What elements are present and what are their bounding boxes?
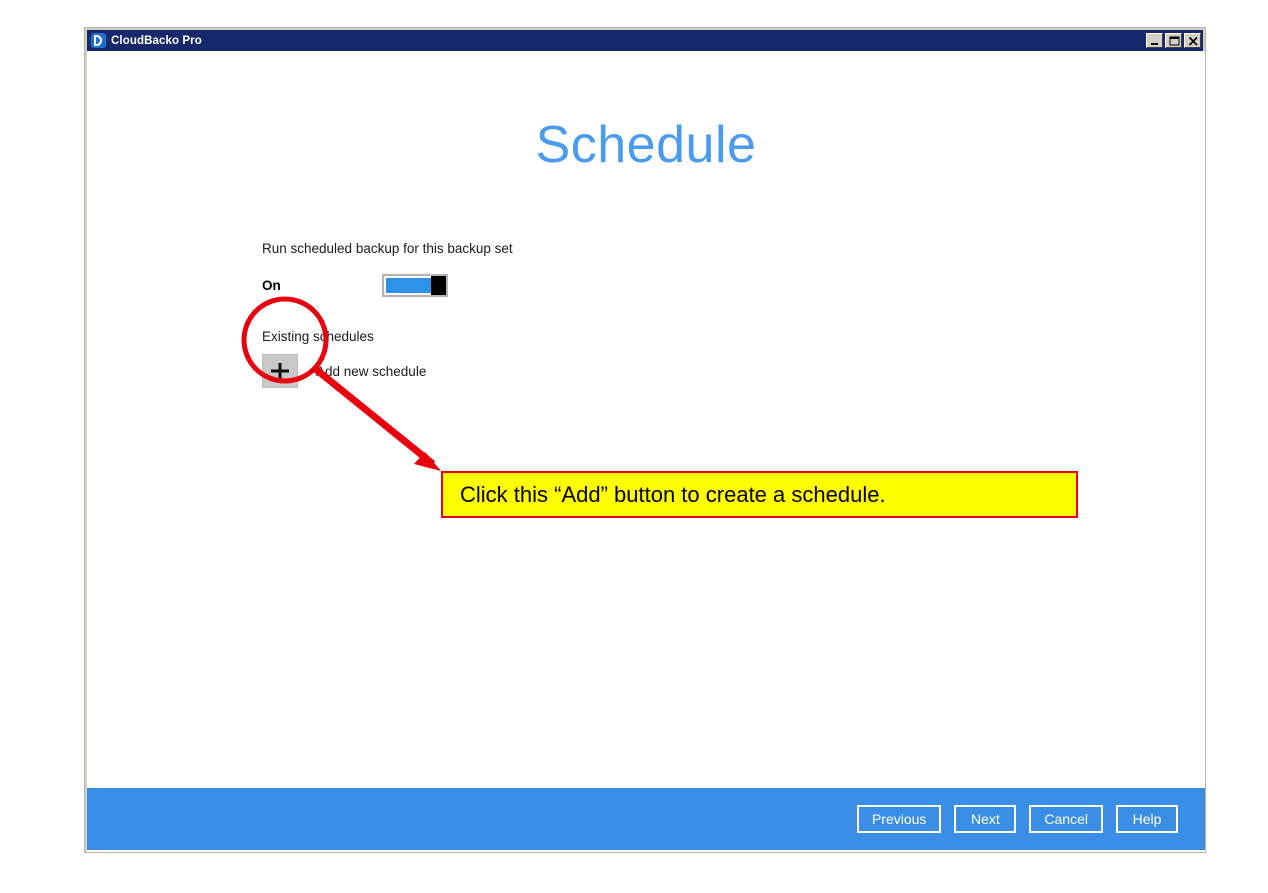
schedule-form: Run scheduled backup for this backup set… [262, 240, 1122, 388]
next-button[interactable]: Next [954, 805, 1016, 833]
page-title: Schedule [87, 119, 1205, 171]
minimize-icon[interactable] [1146, 33, 1163, 48]
help-button[interactable]: Help [1116, 805, 1178, 833]
maximize-icon[interactable] [1165, 33, 1182, 48]
previous-button[interactable]: Previous [857, 805, 941, 833]
schedule-toggle-row: On [262, 272, 1122, 298]
toggle-knob[interactable] [431, 276, 446, 295]
cloudbacko-logo-icon [91, 33, 106, 48]
add-new-schedule-row: Add new schedule [262, 354, 1122, 388]
application-window: CloudBacko Pro Schedule Run scheduled ba… [84, 27, 1206, 853]
run-scheduled-backup-label: Run scheduled backup for this backup set [262, 240, 1122, 258]
toggle-track [386, 278, 431, 293]
plus-icon[interactable] [262, 354, 298, 388]
window-controls [1146, 33, 1201, 48]
content-panel: Schedule Run scheduled backup for this b… [87, 51, 1205, 852]
window-title: CloudBacko Pro [111, 35, 1146, 47]
toggle-state-label: On [262, 278, 382, 293]
cancel-button[interactable]: Cancel [1029, 805, 1103, 833]
close-icon[interactable] [1184, 33, 1201, 48]
title-bar: CloudBacko Pro [87, 30, 1203, 51]
run-scheduled-backup-toggle[interactable] [382, 274, 448, 297]
existing-schedules-label: Existing schedules [262, 328, 1122, 346]
footer-button-bar: Previous Next Cancel Help [87, 788, 1205, 850]
add-new-schedule-label[interactable]: Add new schedule [316, 364, 426, 379]
